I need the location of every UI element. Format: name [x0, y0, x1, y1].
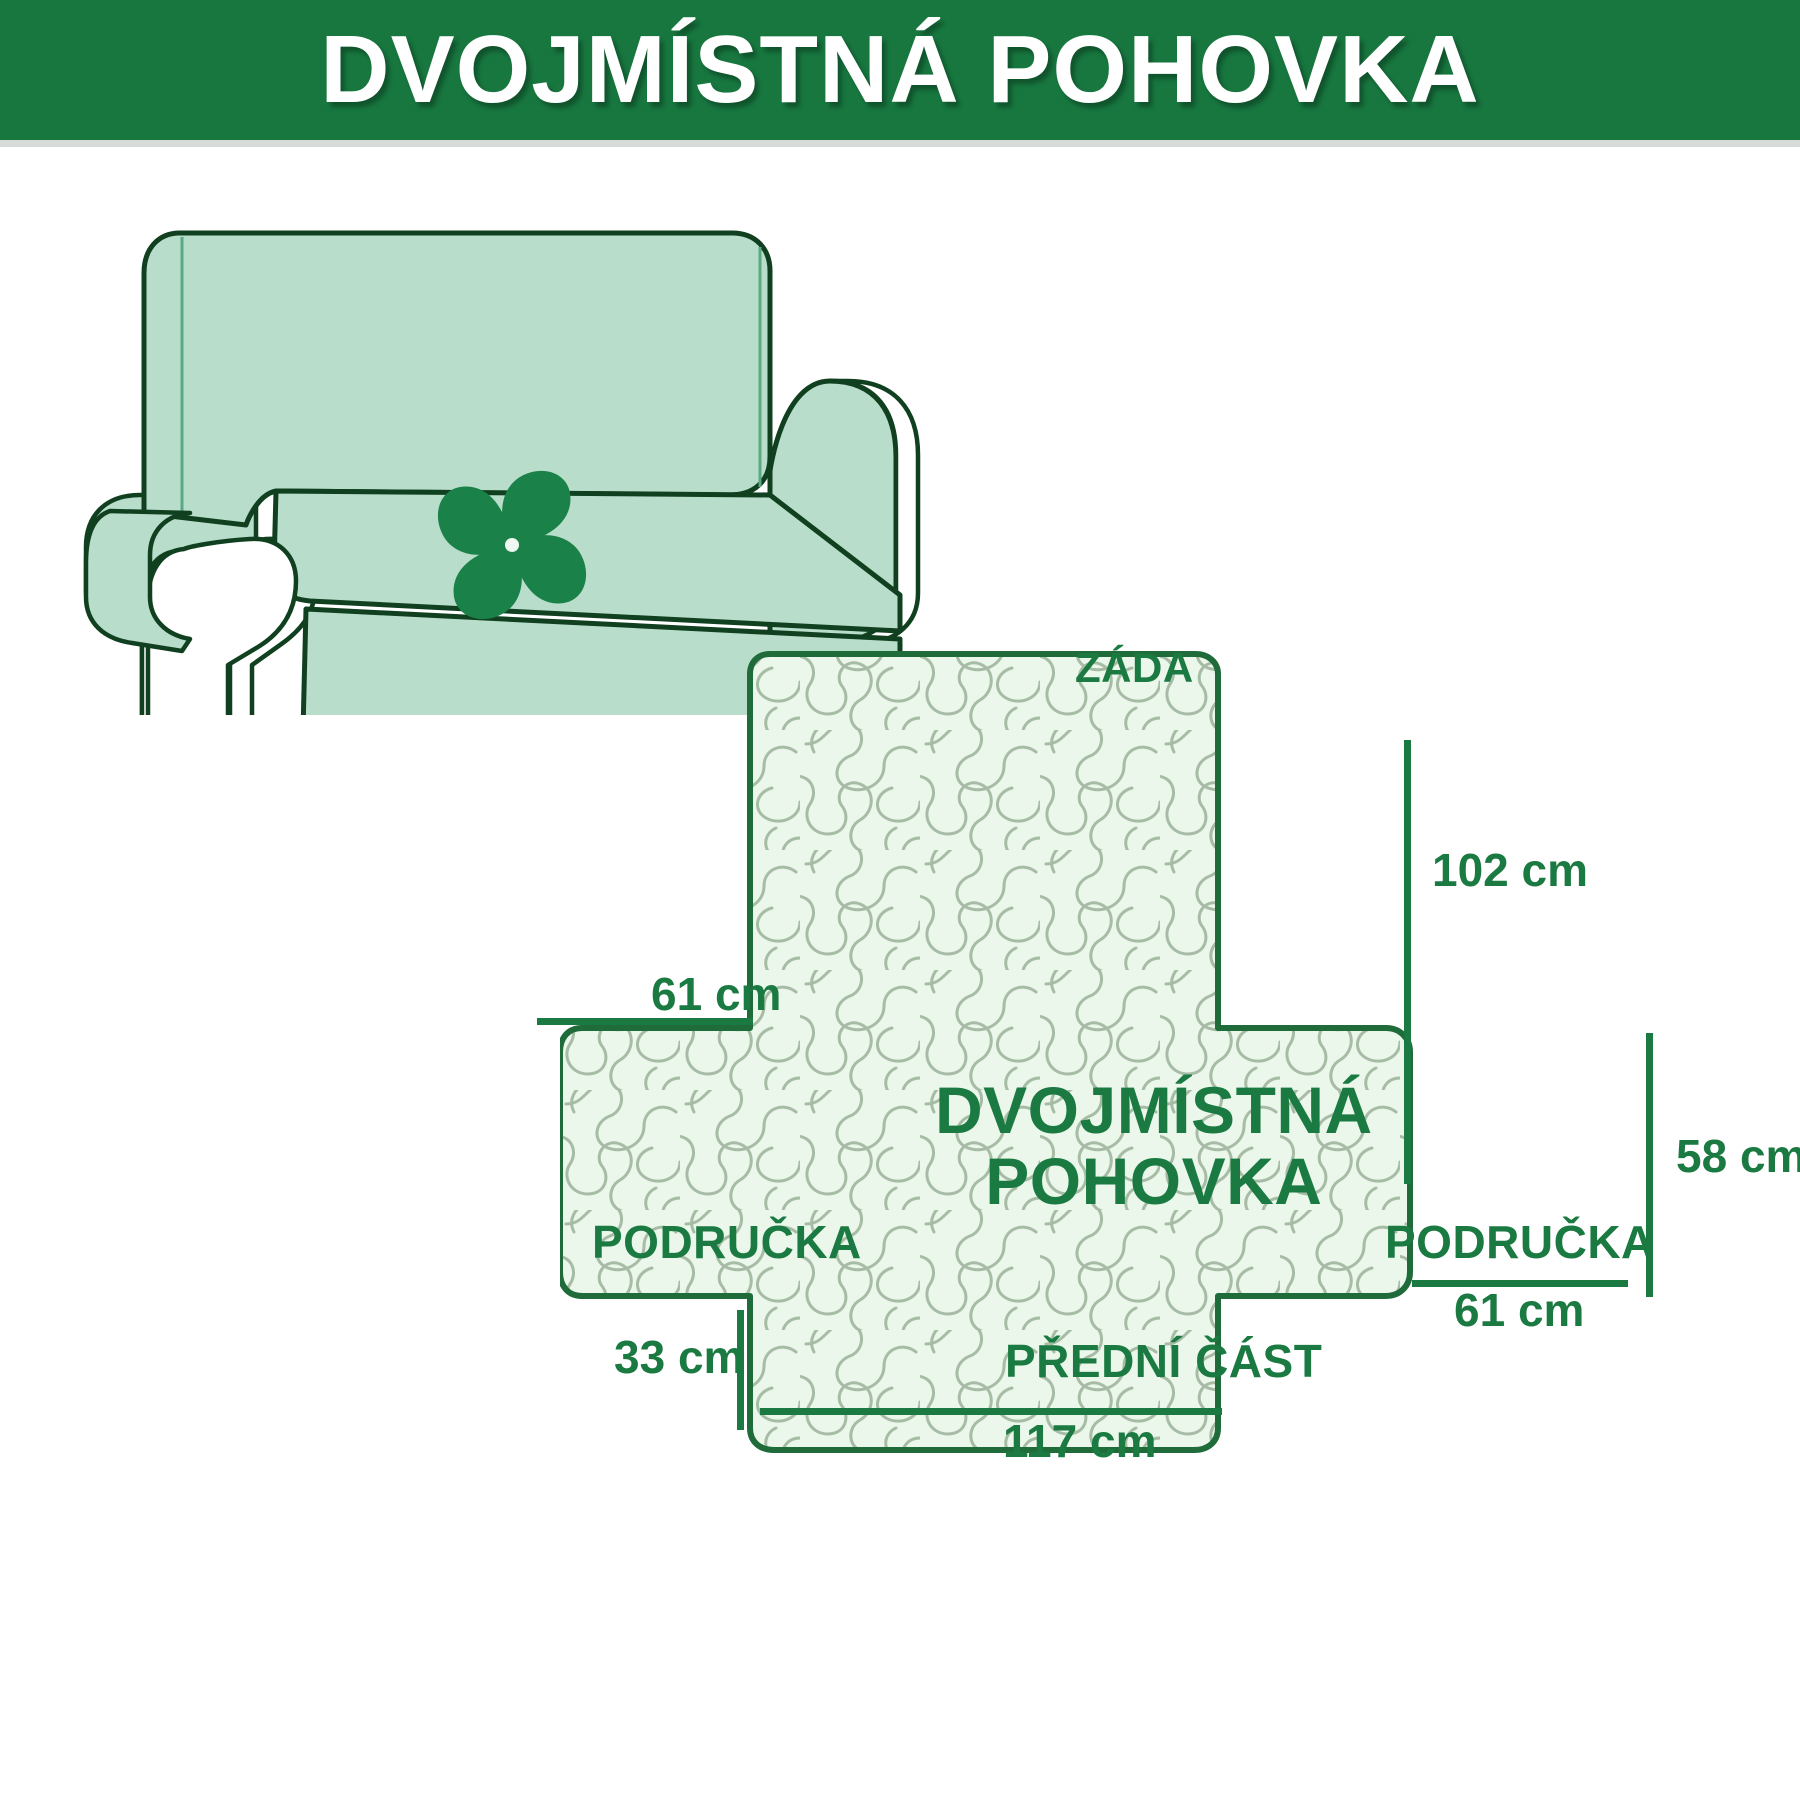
dimension-rule-seat-depth — [1646, 1033, 1653, 1297]
product-dimension-infographic: DVOJMÍSTNÁ POHOVKA — [0, 0, 1800, 1800]
dimension-label-front-height: 33 cm — [614, 1334, 744, 1380]
dimension-label-arm-width: 61 cm — [1454, 1287, 1584, 1333]
panel-label-center: DVOJMÍSTNÁ POHOVKA — [935, 1075, 1373, 1218]
panel-label-arm-left: PODRUČKA — [592, 1218, 862, 1268]
dimension-rule-total-width — [760, 1408, 1222, 1415]
sofa-left-arm-front — [148, 539, 296, 715]
dimension-label-seat-depth: 58 cm — [1676, 1133, 1800, 1179]
sofa-back-area — [144, 233, 770, 525]
header-banner: DVOJMÍSTNÁ POHOVKA — [0, 0, 1800, 140]
dimension-label-back-height: 102 cm — [1432, 847, 1588, 893]
panel-label-arm-right: PODRUČKA — [1385, 1218, 1655, 1268]
panel-label-front: PŘEDNÍ ČÁST — [1005, 1337, 1322, 1387]
panel-label-back: ZÁDA — [1075, 645, 1194, 690]
dimension-rule-back-height — [1404, 740, 1411, 1184]
dimension-label-total-width: 117 cm — [1003, 1418, 1156, 1464]
dimension-label-back-width: 61 cm — [651, 971, 781, 1017]
panel-label-center-line2: POHOVKA — [935, 1146, 1373, 1217]
panel-label-center-line1: DVOJMÍSTNÁ — [935, 1075, 1373, 1146]
header-divider — [0, 140, 1800, 147]
page-title: DVOJMÍSTNÁ POHOVKA — [320, 22, 1479, 118]
